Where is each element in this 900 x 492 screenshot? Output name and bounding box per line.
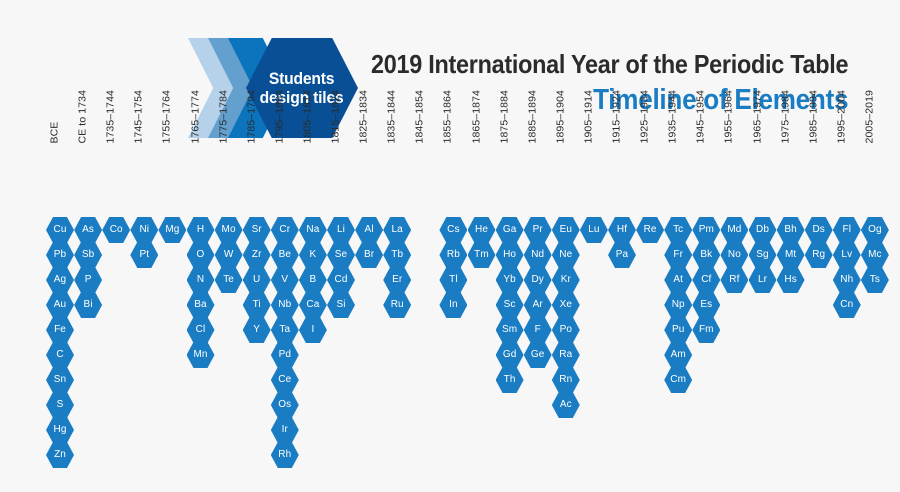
- column-elements: OgMcTs: [861, 217, 889, 292]
- element-symbol: Np: [672, 300, 685, 310]
- element-symbol: Db: [756, 225, 769, 235]
- element-hexagon[interactable]: Zn: [46, 442, 74, 468]
- element-symbol: Cr: [279, 225, 290, 235]
- column-elements: LiSeCdSi: [327, 217, 355, 317]
- element-symbol: Mt: [785, 250, 796, 260]
- column-period-label: 1755–1764: [158, 77, 186, 145]
- element-hexagon[interactable]: Li: [327, 217, 355, 243]
- element-hexagon[interactable]: Mo: [215, 217, 243, 243]
- column-period-label-text: 1895–1904: [555, 90, 566, 143]
- element-hexagon[interactable]: Po: [552, 317, 580, 343]
- column-period-label-text: 1745–1754: [134, 90, 145, 143]
- element-hexagon[interactable]: Cd: [327, 267, 355, 293]
- element-hexagon[interactable]: Cu: [46, 217, 74, 243]
- element-symbol: Pr: [533, 225, 543, 235]
- element-hexagon[interactable]: Lv: [833, 242, 861, 268]
- element-symbol: Sg: [756, 250, 768, 260]
- element-hexagon[interactable]: Xe: [552, 292, 580, 318]
- column-period-label-text: 1765–1774: [190, 90, 201, 143]
- element-symbol: Po: [560, 325, 572, 335]
- element-symbol: Ce: [278, 375, 291, 385]
- element-symbol: La: [392, 225, 403, 235]
- column-period-label-text: 1835–1844: [387, 90, 398, 143]
- element-hexagon[interactable]: Tl: [439, 267, 467, 293]
- element-hexagon[interactable]: Fm: [692, 317, 720, 343]
- column-elements: CsRbTlIn: [439, 217, 467, 317]
- element-hexagon[interactable]: Nb: [271, 292, 299, 318]
- element-symbol: Se: [335, 250, 347, 260]
- element-hexagon[interactable]: C: [46, 342, 74, 368]
- column-elements: CuPbAgAuFeCSnSHgZn: [46, 217, 74, 467]
- element-hexagon[interactable]: K: [299, 242, 327, 268]
- element-hexagon[interactable]: Ce: [271, 367, 299, 393]
- element-symbol: C: [56, 350, 63, 360]
- element-symbol: Hf: [617, 225, 627, 235]
- column-period-label: 1905–1914: [580, 77, 608, 145]
- element-hexagon[interactable]: Au: [46, 292, 74, 318]
- element-symbol: Ds: [812, 225, 824, 235]
- element-symbol: Es: [700, 300, 712, 310]
- column-period-label-text: 1985–1994: [808, 90, 819, 143]
- element-hexagon[interactable]: Nd: [524, 242, 552, 268]
- element-hexagon[interactable]: Es: [692, 292, 720, 318]
- element-symbol: Pd: [279, 350, 291, 360]
- element-hexagon[interactable]: Pm: [692, 217, 720, 243]
- element-hexagon[interactable]: Sm: [496, 317, 524, 343]
- element-symbol: Hs: [784, 275, 796, 285]
- element-hexagon[interactable]: Lu: [580, 217, 608, 243]
- element-symbol: S: [57, 400, 64, 410]
- element-hexagon[interactable]: Br: [355, 242, 383, 268]
- element-hexagon[interactable]: As: [74, 217, 102, 243]
- element-hexagon[interactable]: Cn: [833, 292, 861, 318]
- element-symbol: O: [197, 250, 205, 260]
- element-hexagon[interactable]: Sb: [74, 242, 102, 268]
- column-period-label: 1825–1834: [355, 77, 383, 145]
- element-hexagon[interactable]: Ti: [243, 292, 271, 318]
- element-symbol: Sb: [82, 250, 94, 260]
- element-symbol: At: [673, 275, 683, 285]
- element-symbol: No: [728, 250, 741, 260]
- column-period-label-text: 2005–2019: [864, 90, 875, 143]
- element-hexagon[interactable]: Pa: [608, 242, 636, 268]
- element-symbol: Br: [364, 250, 374, 260]
- element-hexagon[interactable]: No: [720, 242, 748, 268]
- element-hexagon[interactable]: Sr: [243, 217, 271, 243]
- column-period-label-text: 1755–1764: [162, 90, 173, 143]
- element-symbol: Fe: [54, 325, 66, 335]
- element-symbol: Rb: [447, 250, 460, 260]
- column-period-label: 1885–1894: [524, 77, 552, 145]
- column-period-label-text: 1875–1884: [499, 90, 510, 143]
- element-hexagon[interactable]: Nh: [833, 267, 861, 293]
- element-hexagon[interactable]: Rf: [720, 267, 748, 293]
- element-symbol: Cs: [447, 225, 459, 235]
- element-hexagon[interactable]: F: [524, 317, 552, 343]
- element-symbol: Er: [392, 275, 402, 285]
- element-hexagon[interactable]: In: [439, 292, 467, 318]
- element-symbol: Kr: [561, 275, 571, 285]
- element-hexagon[interactable]: Ca: [299, 292, 327, 318]
- column-period-label-text: 1965–1974: [752, 90, 763, 143]
- element-hexagon[interactable]: Re: [636, 217, 664, 243]
- element-hexagon[interactable]: Mc: [861, 242, 889, 268]
- element-hexagon[interactable]: Yb: [496, 267, 524, 293]
- element-hexagon[interactable]: Pb: [46, 242, 74, 268]
- column-period-label: 1745–1754: [130, 77, 158, 145]
- column-period-label-text: 1735–1744: [106, 90, 117, 143]
- element-symbol: Ts: [870, 275, 880, 285]
- column-period-label: 1895–1904: [552, 77, 580, 145]
- element-symbol: Zn: [54, 450, 66, 460]
- element-hexagon[interactable]: He: [468, 217, 496, 243]
- element-hexagon[interactable]: Er: [383, 267, 411, 293]
- element-symbol: Li: [337, 225, 345, 235]
- element-hexagon[interactable]: Cs: [439, 217, 467, 243]
- column-elements: MoWTe: [215, 217, 243, 292]
- element-symbol: P: [85, 275, 92, 285]
- element-hexagon[interactable]: Hg: [46, 417, 74, 443]
- column-elements: Lu: [580, 217, 608, 242]
- element-symbol: Be: [279, 250, 291, 260]
- element-hexagon[interactable]: Md: [720, 217, 748, 243]
- element-symbol: F: [535, 325, 541, 335]
- element-hexagon[interactable]: Sg: [749, 242, 777, 268]
- element-symbol: H: [197, 225, 204, 235]
- column-period-label: 1805–1814: [299, 77, 327, 145]
- element-symbol: Nh: [840, 275, 853, 285]
- column-elements: PmBkCfEsFm: [692, 217, 720, 342]
- element-symbol: Lr: [758, 275, 767, 285]
- element-hexagon[interactable]: Ag: [46, 267, 74, 293]
- element-symbol: Am: [671, 350, 686, 360]
- element-symbol: Bi: [84, 300, 93, 310]
- element-hexagon[interactable]: Rh: [271, 442, 299, 468]
- element-hexagon[interactable]: Hs: [777, 267, 805, 293]
- element-hexagon[interactable]: S: [46, 392, 74, 418]
- column-period-label: 1965–1974: [749, 77, 777, 145]
- element-hexagon[interactable]: Ra: [552, 342, 580, 368]
- element-symbol: Co: [110, 225, 123, 235]
- element-hexagon[interactable]: Cr: [271, 217, 299, 243]
- column-period-label: 1855–1864: [439, 77, 467, 145]
- element-symbol: Mc: [868, 250, 882, 260]
- element-symbol: Ti: [253, 300, 261, 310]
- element-symbol: Cd: [335, 275, 348, 285]
- element-symbol: Mn: [193, 350, 207, 360]
- element-hexagon[interactable]: Ne: [552, 242, 580, 268]
- element-symbol: Pa: [616, 250, 628, 260]
- element-hexagon[interactable]: Th: [496, 367, 524, 393]
- element-hexagon[interactable]: V: [271, 267, 299, 293]
- element-hexagon[interactable]: Ru: [383, 292, 411, 318]
- element-symbol: Hg: [54, 425, 67, 435]
- element-hexagon[interactable]: Mt: [777, 242, 805, 268]
- element-hexagon[interactable]: Fe: [46, 317, 74, 343]
- column-period-label: 1865–1874: [468, 77, 496, 145]
- element-hexagon[interactable]: Ar: [524, 292, 552, 318]
- element-hexagon[interactable]: Co: [102, 217, 130, 243]
- element-symbol: Si: [336, 300, 345, 310]
- element-hexagon[interactable]: At: [664, 267, 692, 293]
- element-symbol: Sr: [252, 225, 262, 235]
- column-elements: EuNeKrXePoRaRnAc: [552, 217, 580, 417]
- element-hexagon[interactable]: Zr: [243, 242, 271, 268]
- element-symbol: Cu: [54, 225, 67, 235]
- column-period-label: 1845–1854: [411, 77, 439, 145]
- element-symbol: Tc: [673, 225, 683, 235]
- element-symbol: Re: [644, 225, 657, 235]
- element-symbol: Ru: [391, 300, 404, 310]
- column-elements: HfPa: [608, 217, 636, 267]
- column-period-label: 1765–1774: [187, 77, 215, 145]
- element-hexagon[interactable]: Og: [861, 217, 889, 243]
- element-symbol: Ca: [306, 300, 319, 310]
- column-period-label-text: CE to 1734: [78, 89, 89, 143]
- element-hexagon[interactable]: I: [299, 317, 327, 343]
- element-symbol: Ir: [282, 425, 288, 435]
- element-symbol: Te: [223, 275, 234, 285]
- column-period-label: BCE: [46, 77, 74, 145]
- element-symbol: Ni: [139, 225, 149, 235]
- column-elements: LaTbErRu: [383, 217, 411, 317]
- element-hexagon[interactable]: Ts: [861, 267, 889, 293]
- column-period-label-text: 1925–1934: [640, 90, 651, 143]
- element-symbol: Bh: [784, 225, 796, 235]
- element-hexagon[interactable]: Bh: [777, 217, 805, 243]
- element-hexagon[interactable]: Ds: [805, 217, 833, 243]
- column-elements: AlBr: [355, 217, 383, 267]
- column-period-label: 1795–1804: [271, 77, 299, 145]
- element-symbol: Nb: [278, 300, 291, 310]
- column-period-label-text: 1915–1924: [612, 90, 623, 143]
- element-symbol: Tm: [474, 250, 489, 260]
- column-elements: GaHoYbScSmGdTh: [496, 217, 524, 392]
- element-symbol: Ar: [533, 300, 543, 310]
- element-symbol: Bk: [700, 250, 712, 260]
- element-symbol: Eu: [560, 225, 572, 235]
- element-symbol: Y: [253, 325, 260, 335]
- element-hexagon[interactable]: Pu: [664, 317, 692, 343]
- element-hexagon[interactable]: Ta: [271, 317, 299, 343]
- element-hexagon[interactable]: Fr: [664, 242, 692, 268]
- element-symbol: Na: [306, 225, 319, 235]
- element-hexagon[interactable]: Eu: [552, 217, 580, 243]
- element-hexagon[interactable]: Gd: [496, 342, 524, 368]
- column-period-label-text: 1885–1894: [527, 90, 538, 143]
- element-symbol: Og: [868, 225, 882, 235]
- element-hexagon[interactable]: Pd: [271, 342, 299, 368]
- element-hexagon[interactable]: La: [383, 217, 411, 243]
- element-hexagon[interactable]: Ba: [187, 292, 215, 318]
- element-hexagon[interactable]: Cl: [187, 317, 215, 343]
- element-symbol: Ne: [559, 250, 572, 260]
- element-hexagon[interactable]: Fl: [833, 217, 861, 243]
- element-symbol: Os: [278, 400, 291, 410]
- element-hexagon[interactable]: Te: [215, 267, 243, 293]
- column-elements: FlLvNhCn: [833, 217, 861, 317]
- column-period-label: 1945–1954: [692, 77, 720, 145]
- element-hexagon[interactable]: Pt: [130, 242, 158, 268]
- element-hexagon[interactable]: N: [187, 267, 215, 293]
- element-symbol: Tb: [391, 250, 403, 260]
- element-hexagon[interactable]: U: [243, 267, 271, 293]
- element-symbol: Fm: [699, 325, 714, 335]
- element-hexagon[interactable]: Tc: [664, 217, 692, 243]
- element-hexagon[interactable]: Y: [243, 317, 271, 343]
- element-symbol: Mo: [222, 225, 236, 235]
- element-symbol: Cf: [701, 275, 711, 285]
- column-period-label-text: 1975–1984: [780, 90, 791, 143]
- column-elements: NiPt: [130, 217, 158, 267]
- element-hexagon[interactable]: Sc: [496, 292, 524, 318]
- element-symbol: Dy: [531, 275, 543, 285]
- element-symbol: Ba: [194, 300, 206, 310]
- element-hexagon[interactable]: Np: [664, 292, 692, 318]
- element-symbol: K: [310, 250, 317, 260]
- element-symbol: Nd: [531, 250, 544, 260]
- element-symbol: Gd: [503, 350, 517, 360]
- column-elements: AsSbPBi: [74, 217, 102, 317]
- column-period-label: 1955–1964: [720, 77, 748, 145]
- element-hexagon[interactable]: Mn: [187, 342, 215, 368]
- element-symbol: Pb: [54, 250, 66, 260]
- column-period-label-text: 1815–1824: [331, 90, 342, 143]
- element-symbol: Lu: [588, 225, 599, 235]
- column-period-label-text: 1865–1874: [471, 90, 482, 143]
- element-hexagon[interactable]: Am: [664, 342, 692, 368]
- element-hexagon[interactable]: Be: [271, 242, 299, 268]
- element-symbol: Pm: [699, 225, 714, 235]
- element-hexagon[interactable]: Sn: [46, 367, 74, 393]
- element-hexagon[interactable]: Tb: [383, 242, 411, 268]
- element-hexagon[interactable]: Ga: [496, 217, 524, 243]
- element-symbol: Al: [365, 225, 374, 235]
- element-symbol: W: [224, 250, 234, 260]
- element-symbol: Sc: [504, 300, 516, 310]
- column-period-label: 1925–1934: [636, 77, 664, 145]
- column-period-label-text: 1845–1854: [415, 90, 426, 143]
- element-symbol: Ga: [503, 225, 517, 235]
- element-hexagon[interactable]: H: [187, 217, 215, 243]
- element-symbol: Pt: [139, 250, 149, 260]
- element-hexagon[interactable]: Ho: [496, 242, 524, 268]
- element-symbol: Md: [727, 225, 741, 235]
- column-elements: HONBaClMn: [187, 217, 215, 367]
- column-period-label-text: BCE: [50, 121, 61, 143]
- element-hexagon[interactable]: Dy: [524, 267, 552, 293]
- element-symbol: Yb: [503, 275, 515, 285]
- element-symbol: Rf: [729, 275, 739, 285]
- column-elements: Re: [636, 217, 664, 242]
- element-hexagon[interactable]: Tm: [468, 242, 496, 268]
- column-period-label-text: 1785–1794: [246, 90, 257, 143]
- element-symbol: Ac: [560, 400, 572, 410]
- column-elements: TcFrAtNpPuAmCm: [664, 217, 692, 392]
- element-hexagon[interactable]: Ac: [552, 392, 580, 418]
- element-symbol: Fr: [673, 250, 683, 260]
- element-symbol: Ge: [531, 350, 545, 360]
- element-symbol: Fl: [843, 225, 852, 235]
- element-symbol: Au: [54, 300, 66, 310]
- element-symbol: Cm: [670, 375, 686, 385]
- timeline-chart: BCECuPbAgAuFeCSnSHgZnCE to 1734AsSbPBi17…: [46, 145, 886, 485]
- element-hexagon[interactable]: W: [215, 242, 243, 268]
- column-period-label: 1915–1924: [608, 77, 636, 145]
- element-symbol: Zr: [252, 250, 262, 260]
- column-period-label: 1975–1984: [777, 77, 805, 145]
- element-hexagon[interactable]: P: [74, 267, 102, 293]
- element-symbol: Sn: [54, 375, 66, 385]
- element-symbol: Tl: [449, 275, 458, 285]
- column-period-label: CE to 1734: [74, 77, 102, 145]
- element-hexagon[interactable]: Cf: [692, 267, 720, 293]
- element-hexagon[interactable]: Kr: [552, 267, 580, 293]
- element-hexagon[interactable]: Lr: [749, 267, 777, 293]
- element-hexagon[interactable]: Cm: [664, 367, 692, 393]
- column-period-label-text: 1855–1864: [443, 90, 454, 143]
- element-symbol: Lv: [841, 250, 852, 260]
- element-hexagon[interactable]: Na: [299, 217, 327, 243]
- element-hexagon[interactable]: Rn: [552, 367, 580, 393]
- element-hexagon[interactable]: Db: [749, 217, 777, 243]
- element-symbol: Xe: [560, 300, 572, 310]
- element-hexagon[interactable]: Ge: [524, 342, 552, 368]
- column-period-label: 1875–1884: [496, 77, 524, 145]
- element-hexagon[interactable]: B: [299, 267, 327, 293]
- column-period-label: 2005–2019: [861, 77, 889, 145]
- column-period-label: 1935–1944: [664, 77, 692, 145]
- element-symbol: Ag: [54, 275, 66, 285]
- column-elements: MdNoRf: [720, 217, 748, 292]
- element-hexagon[interactable]: Bk: [692, 242, 720, 268]
- column-period-label: 1785–1794: [243, 77, 271, 145]
- column-elements: Co: [102, 217, 130, 242]
- element-hexagon[interactable]: Al: [355, 217, 383, 243]
- element-hexagon[interactable]: Ni: [130, 217, 158, 243]
- element-hexagon[interactable]: Si: [327, 292, 355, 318]
- element-symbol: Rg: [812, 250, 825, 260]
- element-hexagon[interactable]: Bi: [74, 292, 102, 318]
- column-period-label-text: 1935–1944: [668, 90, 679, 143]
- column-period-label: 1995–2004: [833, 77, 861, 145]
- column-period-label-text: 1905–1914: [583, 90, 594, 143]
- element-symbol: N: [197, 275, 204, 285]
- column-period-label: 1835–1844: [383, 77, 411, 145]
- element-symbol: Ta: [279, 325, 290, 335]
- column-period-label-text: 1995–2004: [836, 90, 847, 143]
- element-hexagon[interactable]: Hf: [608, 217, 636, 243]
- element-symbol: Pu: [672, 325, 684, 335]
- element-symbol: Sm: [502, 325, 517, 335]
- element-symbol: Rh: [278, 450, 291, 460]
- element-hexagon[interactable]: Ir: [271, 417, 299, 443]
- element-hexagon[interactable]: Rg: [805, 242, 833, 268]
- page-title: 2019 International Year of the Periodic …: [371, 50, 848, 80]
- element-hexagon[interactable]: Rb: [439, 242, 467, 268]
- element-hexagon[interactable]: Os: [271, 392, 299, 418]
- column-period-label: 1815–1824: [327, 77, 355, 145]
- element-hexagon[interactable]: O: [187, 242, 215, 268]
- element-symbol: Ho: [503, 250, 516, 260]
- element-hexagon[interactable]: Pr: [524, 217, 552, 243]
- column-elements: CrBeVNbTaPdCeOsIrRh: [271, 217, 299, 467]
- element-symbol: Th: [504, 375, 516, 385]
- element-symbol: Cn: [840, 300, 853, 310]
- element-hexagon[interactable]: Mg: [158, 217, 186, 243]
- column-elements: Mg: [158, 217, 186, 242]
- element-hexagon[interactable]: Se: [327, 242, 355, 268]
